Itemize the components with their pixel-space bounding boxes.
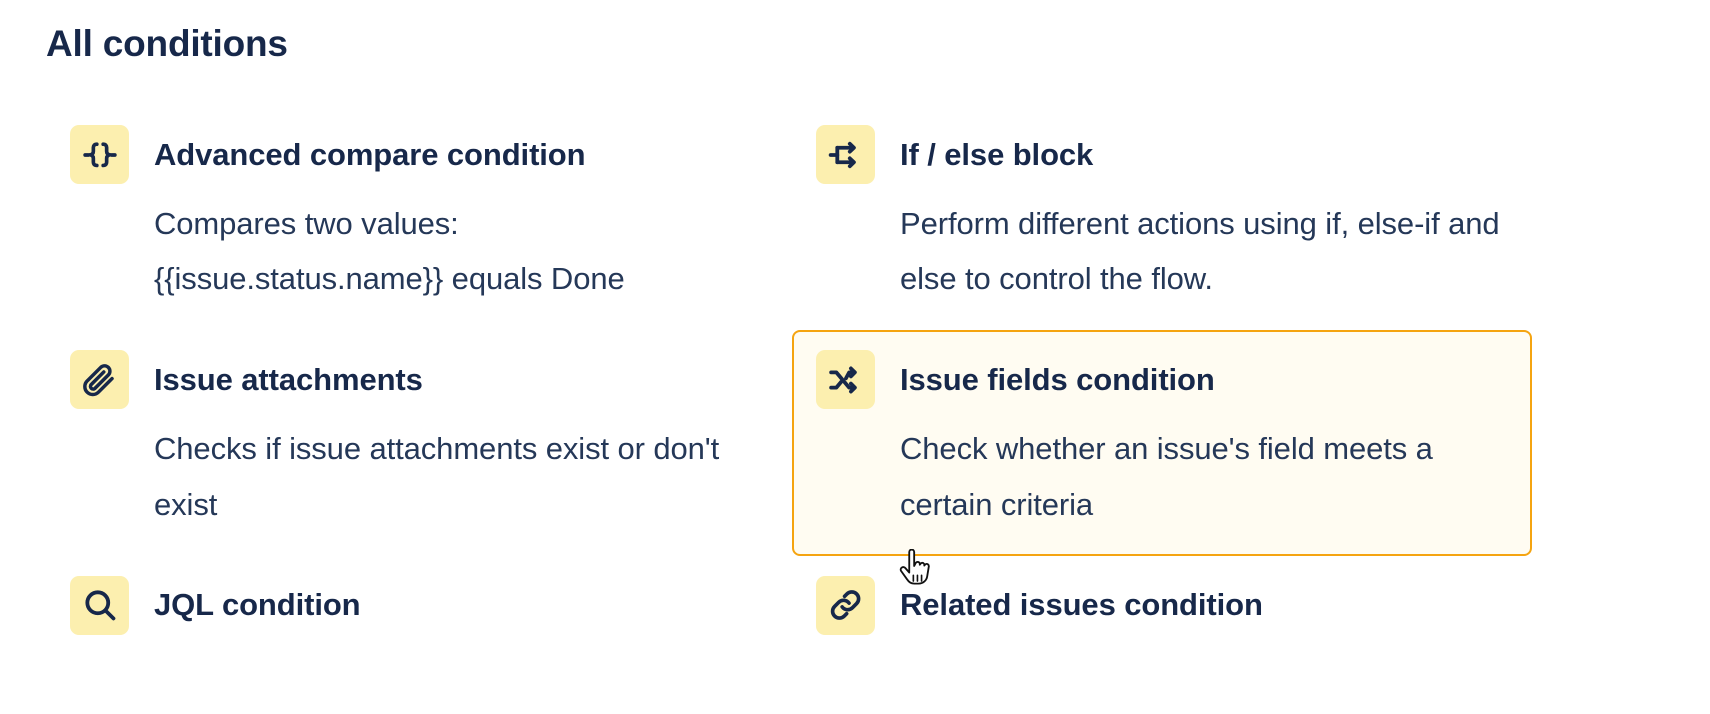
card-header: JQL condition (70, 576, 762, 635)
branch-split-icon (816, 125, 875, 184)
condition-title: If / else block (900, 137, 1093, 173)
condition-card-issue-fields-condition[interactable]: Issue fields condition Check whether an … (792, 330, 1532, 555)
card-header: Issue attachments (70, 350, 762, 409)
card-header: Related issues condition (816, 576, 1508, 635)
condition-title: Advanced compare condition (154, 137, 585, 173)
condition-card-related-issues-condition[interactable]: Related issues condition (792, 556, 1532, 659)
condition-description: Check whether an issue's field meets a c… (900, 421, 1500, 531)
condition-description: Compares two values: {{issue.status.name… (154, 196, 754, 306)
condition-title: Issue fields condition (900, 362, 1215, 398)
paperclip-icon (70, 350, 129, 409)
card-header: Advanced compare condition (70, 125, 762, 184)
page-title: All conditions (46, 22, 288, 66)
card-header: If / else block (816, 125, 1508, 184)
card-header: Issue fields condition (816, 350, 1508, 409)
condition-description: Perform different actions using if, else… (900, 196, 1500, 306)
magnifier-icon (70, 576, 129, 635)
condition-title: Issue attachments (154, 362, 423, 398)
condition-card-if-else-block[interactable]: If / else block Perform different action… (792, 105, 1532, 330)
condition-title: Related issues condition (900, 587, 1263, 623)
condition-card-advanced-compare-condition[interactable]: Advanced compare condition Compares two … (46, 105, 786, 330)
condition-card-jql-condition[interactable]: JQL condition (46, 556, 786, 659)
shuffle-icon (816, 350, 875, 409)
link-icon (816, 576, 875, 635)
braces-icon (70, 125, 129, 184)
condition-description: Checks if issue attachments exist or don… (154, 421, 754, 531)
all-conditions-panel: All conditions Advanced compare conditio… (0, 0, 1710, 714)
condition-title: JQL condition (154, 587, 361, 623)
condition-card-issue-attachments[interactable]: Issue attachments Checks if issue attach… (46, 330, 786, 555)
conditions-grid: Advanced compare condition Compares two … (46, 105, 1666, 659)
